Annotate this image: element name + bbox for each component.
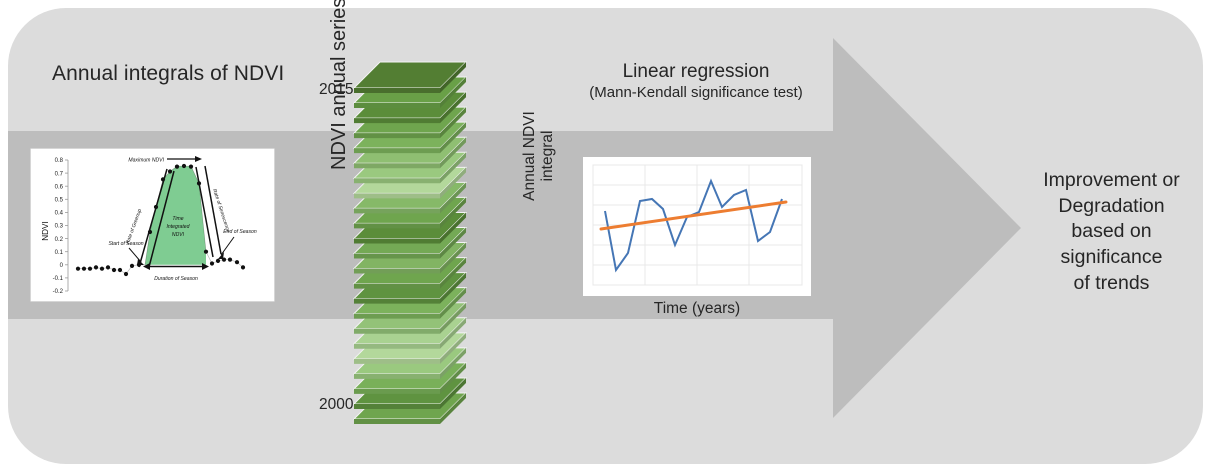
svg-text:Maximum NDVI: Maximum NDVI (128, 158, 164, 164)
stage-right-conclusion: Improvement or Degradation based on sign… (1024, 168, 1199, 297)
conclusion-line1: Improvement or (1024, 168, 1199, 194)
svg-text:0.1: 0.1 (55, 250, 64, 256)
diagram-stage: Annual integrals of NDVI 0.8 (0, 0, 1211, 474)
regression-x-axis-label: Time (years) (583, 300, 811, 318)
svg-text:Integrated: Integrated (167, 224, 190, 230)
regression-y-axis-label-line1: Annual NDVI (521, 91, 539, 221)
ndvi-phenology-chart: 0.8 0.7 0.6 0.5 0.4 0.3 0.2 0.1 0 -0.1 -… (31, 149, 274, 301)
svg-text:Duration of Season: Duration of Season (154, 276, 198, 282)
svg-text:NDVI: NDVI (172, 232, 185, 238)
svg-text:0.3: 0.3 (55, 224, 64, 230)
conclusion-line5: of trends (1024, 271, 1199, 297)
process-arrow-head (833, 38, 1021, 418)
svg-text:NDVI: NDVI (41, 221, 50, 241)
svg-text:Time: Time (172, 216, 183, 222)
year-label-bottom: 2000 (319, 396, 353, 414)
svg-text:0.6: 0.6 (55, 184, 64, 190)
conclusion-line2: Degradation (1024, 194, 1199, 220)
conclusion-line4: significance (1024, 245, 1199, 271)
svg-text:-0.1: -0.1 (53, 276, 64, 282)
svg-text:0.2: 0.2 (55, 237, 64, 243)
svg-text:0.5: 0.5 (55, 198, 64, 204)
stage-left-title: Annual integrals of NDVI (52, 62, 332, 86)
regression-y-axis-label: Annual NDVI integral (521, 91, 565, 221)
svg-text:Start of Season: Start of Season (108, 241, 143, 247)
stage-middle-title: Linear regression (Mann-Kendall signific… (546, 60, 846, 103)
stage-middle-title-line2: (Mann-Kendall significance test) (546, 84, 846, 103)
svg-text:0.8: 0.8 (55, 158, 64, 164)
year-label-top: 2015 (319, 81, 353, 99)
svg-text:-0.2: -0.2 (53, 289, 64, 295)
svg-text:0.4: 0.4 (55, 211, 64, 217)
svg-text:0.7: 0.7 (55, 171, 64, 177)
conclusion-line3: based on (1024, 219, 1199, 245)
ndvi-layer-stack (352, 56, 482, 424)
svg-text:End of Season: End of Season (223, 229, 257, 235)
regression-y-axis-label-line2: integral (539, 91, 557, 221)
regression-chart (583, 157, 811, 296)
stage-middle-title-line1: Linear regression (546, 60, 846, 84)
